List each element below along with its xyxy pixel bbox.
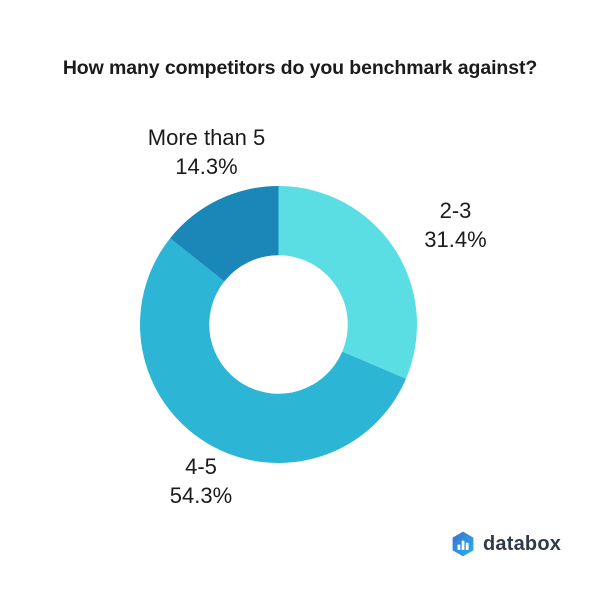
- databox-wordmark: databox: [483, 534, 561, 554]
- slice-label-more-than-5-value: 14.3%: [104, 152, 309, 181]
- slice-label-4-5: 4-5 54.3%: [118, 452, 284, 511]
- slice-label-2-3-value: 31.4%: [383, 225, 528, 254]
- databox-logo: databox: [451, 531, 561, 557]
- databox-hexagon-icon: [451, 531, 475, 557]
- slice-label-4-5-value: 54.3%: [118, 481, 284, 510]
- donut-slice-group: [140, 186, 417, 463]
- page-title: How many competitors do you benchmark ag…: [0, 57, 600, 80]
- slice-label-more-than-5-name: More than 5: [104, 123, 309, 152]
- slice-label-2-3-name: 2-3: [383, 196, 528, 225]
- slice-label-4-5-name: 4-5: [118, 452, 284, 481]
- donut-chart: [140, 186, 417, 463]
- chart-canvas: How many competitors do you benchmark ag…: [0, 0, 600, 600]
- donut-chart-svg: [140, 186, 417, 463]
- slice-label-2-3: 2-3 31.4%: [383, 196, 528, 255]
- slice-label-more-than-5: More than 5 14.3%: [104, 123, 309, 182]
